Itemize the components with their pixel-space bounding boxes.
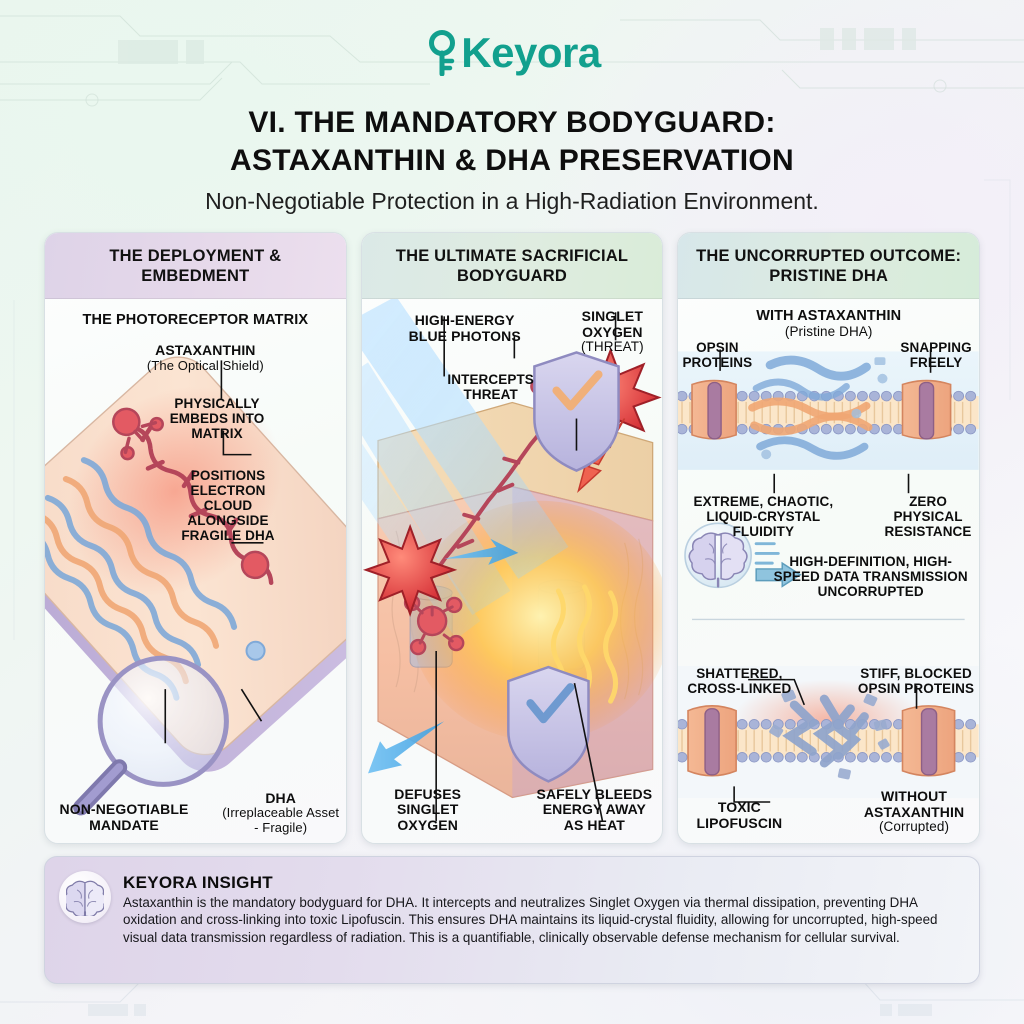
- title-line-2: ASTAXANTHIN & DHA PRESERVATION: [0, 142, 1024, 180]
- panel-bodyguard-body: HIGH-ENERGY BLUE PHOTONS SINGLET OXYGEN …: [362, 299, 663, 843]
- key-icon: [423, 30, 465, 76]
- label-singlet-oxygen-sub: (THREAT): [570, 340, 654, 355]
- brand-logo: Keyora: [0, 30, 1024, 76]
- label-embeds-into-matrix: PHYSICALLY EMBEDS INTO MATRIX: [157, 397, 277, 442]
- panel-deployment-header: THE DEPLOYMENT & EMBEDMENT: [45, 233, 346, 299]
- panel-deployment-body: THE PHOTORECEPTOR MATRIX ASTAXANTHIN (Th…: [45, 299, 346, 843]
- panel-outcome[interactable]: THE UNCORRUPTED OUTCOME: PRISTINE DHA: [677, 232, 980, 844]
- keyora-insight-box: KEYORA INSIGHT Astaxanthin is the mandat…: [44, 856, 980, 984]
- label-singlet-oxygen-title: SINGLET OXYGEN: [582, 308, 643, 339]
- label-with-astaxanthin: WITH ASTAXANTHIN (Pristine DHA): [678, 309, 979, 340]
- label-data-transmission: HIGH-DEFINITION, HIGH-SPEED DATA TRANSMI…: [766, 555, 975, 600]
- insight-title: KEYORA INSIGHT: [123, 873, 963, 893]
- label-defuses-singlet-oxygen: DEFUSES SINGLET OXYGEN: [376, 787, 480, 833]
- magnifier-icon: [81, 658, 226, 807]
- label-photoreceptor-matrix: THE PHOTORECEPTOR MATRIX: [51, 313, 340, 329]
- brand-name: Keyora: [461, 32, 600, 74]
- panel-row: THE DEPLOYMENT & EMBEDMENT: [44, 232, 980, 844]
- label-dha: DHA (Irreplaceable Asset - Fragile): [222, 791, 340, 835]
- label-stiff-blocked-opsin: STIFF, BLOCKED OPSIN PROTEINS: [855, 667, 977, 697]
- label-liquid-crystal-fluidity: EXTREME, CHAOTIC, LIQUID-CRYSTAL FLUIDIT…: [680, 495, 846, 540]
- label-with-astaxanthin-title: WITH ASTAXANTHIN: [756, 308, 901, 324]
- label-non-negotiable-mandate: NON-NEGOTIABLE MANDATE: [49, 802, 199, 833]
- label-opsin-proteins: OPSIN PROTEINS: [680, 341, 754, 371]
- label-astaxanthin-title: ASTAXANTHIN: [155, 342, 255, 358]
- label-dha-title: DHA: [265, 790, 296, 806]
- label-astaxanthin-sub: (The Optical Shield): [75, 359, 336, 373]
- panel-outcome-body: WITH ASTAXANTHIN (Pristine DHA) OPSIN PR…: [678, 299, 979, 843]
- brain-icon: [59, 871, 111, 923]
- label-dha-sub: (Irreplaceable Asset - Fragile): [222, 806, 340, 835]
- label-positions-electron-cloud: POSITIONS ELECTRON CLOUD ALONGSIDE FRAGI…: [173, 469, 283, 543]
- panel-outcome-header: THE UNCORRUPTED OUTCOME: PRISTINE DHA: [678, 233, 979, 299]
- label-zero-physical-resistance: ZERO PHYSICAL RESISTANCE: [879, 495, 977, 540]
- insight-content: KEYORA INSIGHT Astaxanthin is the mandat…: [123, 871, 963, 946]
- label-intercepts-threat: INTERCEPTS THREAT: [444, 373, 538, 403]
- panel-bodyguard[interactable]: THE ULTIMATE SACRIFICIAL BODYGUARD: [361, 232, 664, 844]
- label-astaxanthin: ASTAXANTHIN (The Optical Shield): [75, 343, 336, 373]
- page-subtitle: Non-Negotiable Protection in a High-Radi…: [0, 188, 1024, 215]
- label-snapping-freely: SNAPPING FREELY: [895, 341, 977, 371]
- title-line-1: VI. THE MANDATORY BODYGUARD:: [0, 104, 1024, 142]
- insight-body: Astaxanthin is the mandatory bodyguard f…: [123, 894, 963, 946]
- label-without-astaxanthin: WITHOUT ASTAXANTHIN (Corrupted): [851, 789, 977, 835]
- page-title: VI. THE MANDATORY BODYGUARD: ASTAXANTHIN…: [0, 104, 1024, 215]
- panel-bodyguard-header: THE ULTIMATE SACRIFICIAL BODYGUARD: [362, 233, 663, 299]
- label-high-energy-blue-photons: HIGH-ENERGY BLUE PHOTONS: [406, 313, 524, 344]
- label-safely-bleeds-energy: SAFELY BLEEDS ENERGY AWAY AS HEAT: [534, 787, 654, 833]
- label-with-astaxanthin-sub: (Pristine DHA): [678, 325, 979, 340]
- photoreceptor-matrix-illustration: [45, 299, 346, 843]
- label-singlet-oxygen: SINGLET OXYGEN (THREAT): [570, 309, 654, 355]
- label-without-astaxanthin-title: WITHOUT ASTAXANTHIN: [864, 788, 964, 819]
- label-shattered-cross-linked: SHATTERED, CROSS-LINKED: [680, 667, 798, 697]
- label-toxic-lipofuscin: TOXIC LIPOFUSCIN: [684, 800, 794, 831]
- label-without-astaxanthin-sub: (Corrupted): [851, 820, 977, 835]
- panel-deployment[interactable]: THE DEPLOYMENT & EMBEDMENT: [44, 232, 347, 844]
